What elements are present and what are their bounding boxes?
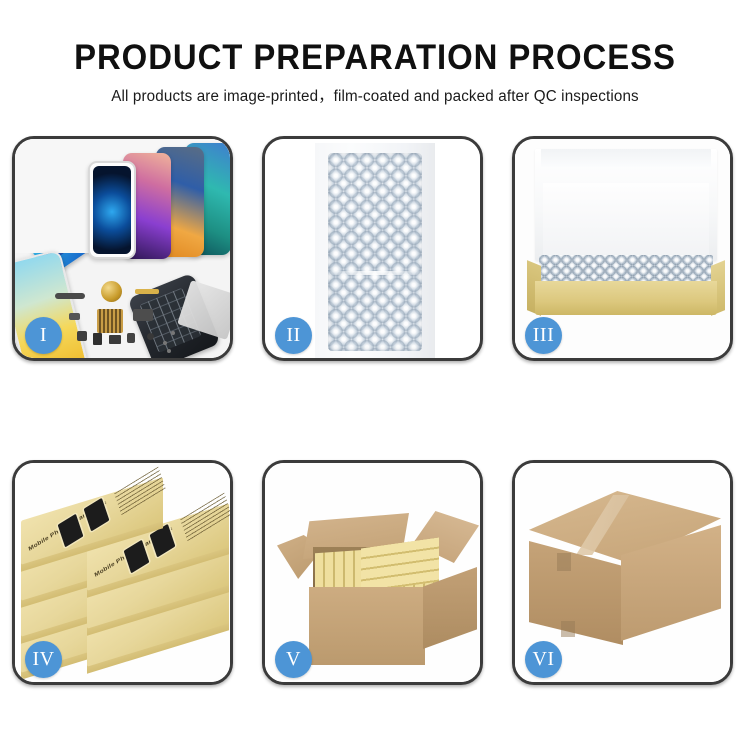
speaker-part-icon	[101, 281, 122, 302]
carton-handle-cut-1	[557, 553, 571, 571]
step-panel-2[interactable]: II	[262, 136, 483, 361]
page-title: PRODUCT PREPARATION PROCESS	[23, 0, 728, 78]
product-preparation-infographic: PRODUCT PREPARATION PROCESS All products…	[0, 0, 750, 750]
screw-3-icon	[167, 349, 171, 353]
spare-parts-group	[71, 287, 181, 358]
bubble-pouch-scene	[315, 143, 435, 358]
bubble-wrap-icon	[328, 153, 422, 351]
phone-front-screen-icon	[88, 161, 136, 259]
small-part-4-icon	[127, 333, 135, 343]
small-part-5-icon	[69, 313, 80, 320]
header: PRODUCT PREPARATION PROCESS All products…	[0, 0, 750, 106]
step-badge-1: I	[25, 317, 62, 354]
step-panel-3[interactable]: III	[512, 136, 733, 361]
carton-handle-cut-2	[561, 621, 575, 637]
small-part-1-icon	[77, 331, 87, 341]
foam-sheet-icon	[543, 183, 709, 257]
carton-front-wall	[309, 587, 425, 665]
screw-1-icon	[163, 341, 167, 345]
step-badge-5: V	[275, 641, 312, 678]
steps-grid: I II	[0, 136, 750, 688]
step-panel-5[interactable]: V	[262, 460, 483, 685]
step-badge-4: IV	[25, 641, 62, 678]
step-panel-6[interactable]: VI	[512, 460, 733, 685]
flex-strip-part-icon	[55, 293, 85, 299]
small-part-6-icon	[147, 333, 154, 340]
steps-row-1: I II	[0, 136, 750, 364]
page-subtitle: All products are image-printed，film-coat…	[8, 78, 743, 106]
flex-cable-part-icon	[135, 289, 159, 294]
carton-left-face	[529, 541, 623, 645]
box-spec-lines	[180, 493, 230, 542]
step-panel-4[interactable]: Mobile Phone Spare Parts Mobile Phone Sp…	[12, 460, 233, 685]
step-badge-2: II	[275, 317, 312, 354]
chip-part-icon	[97, 309, 123, 333]
step-badge-6: VI	[525, 641, 562, 678]
pouch-seam	[329, 271, 421, 275]
box-front-wall	[535, 281, 717, 315]
small-part-3-icon	[109, 335, 121, 344]
screw-2-icon	[171, 331, 175, 335]
steps-row-2: Mobile Phone Spare Parts Mobile Phone Sp…	[0, 460, 750, 688]
small-part-2-icon	[93, 333, 102, 345]
box-spec-lines	[114, 467, 166, 516]
step-badge-3: III	[525, 317, 562, 354]
connector-part-icon	[133, 309, 153, 321]
step-panel-1[interactable]: I	[12, 136, 233, 361]
